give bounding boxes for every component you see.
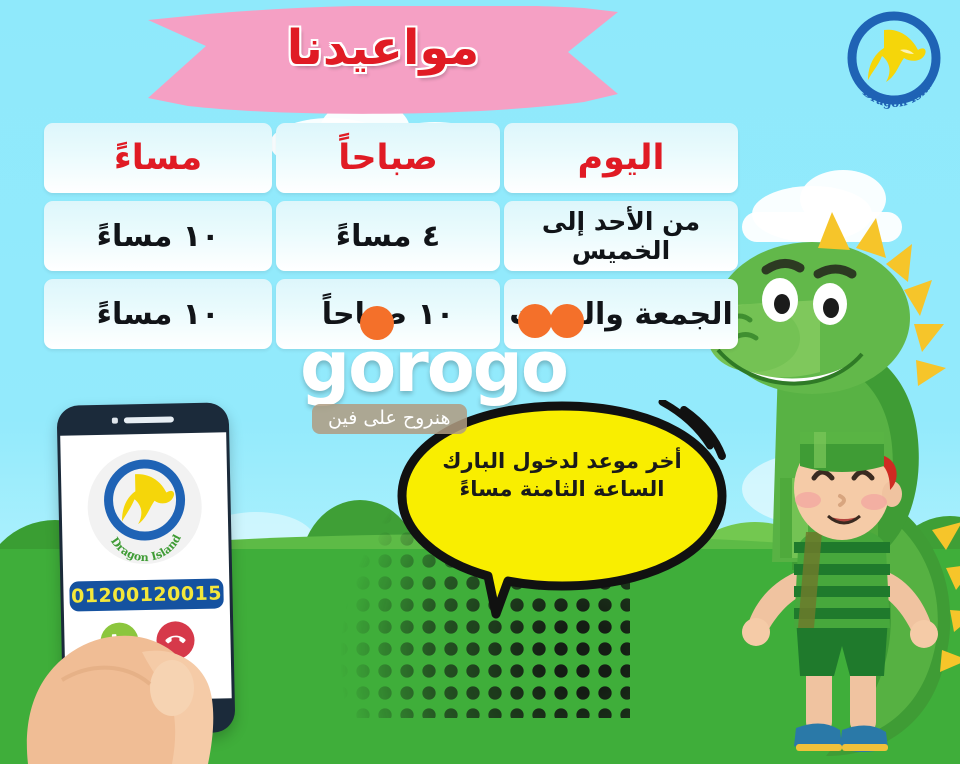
value-morning-weekday: ٤ مساءً	[336, 219, 440, 254]
header-cell-evening: مساءً	[44, 123, 272, 193]
cell-evening-weekend: ١٠ مساءً	[44, 279, 272, 349]
value-evening-weekend: ١٠ مساءً	[97, 297, 220, 332]
cell-morning-weekend: ١٠ صباحاً	[276, 279, 500, 349]
hand-holding-phone	[22, 560, 232, 764]
cell-evening-weekday: ١٠ مساءً	[44, 201, 272, 271]
table-row: الجمعة والسبت ١٠ صباحاً ١٠ مساءً	[38, 279, 738, 349]
header-cell-day: اليوم	[504, 123, 738, 193]
table-row: من الأحد إلى الخميس ٤ مساءً ١٠ مساءً	[38, 201, 738, 271]
poster-root: مواعيدنا Dragon Island اليوم صباحاً مساء…	[0, 0, 960, 764]
value-morning-weekend: ١٠ صباحاً	[322, 297, 454, 332]
bubble-message: أخر موعد لدخول البارك الساعة الثامنة مسا…	[428, 448, 696, 503]
page-title: مواعيدنا	[148, 20, 618, 76]
header-label-evening: مساءً	[114, 138, 202, 178]
cell-day-weekend: الجمعة والسبت	[504, 279, 738, 349]
table-header-row: اليوم صباحاً مساءً	[38, 123, 738, 193]
cell-day-weekday: من الأحد إلى الخميس	[504, 201, 738, 271]
boy-character	[742, 432, 938, 764]
phone-dragon-island-logo: Dragon Island	[84, 447, 204, 567]
speech-bubble: أخر موعد لدخول البارك الساعة الثامنة مسا…	[392, 400, 732, 630]
value-evening-weekday: ١٠ مساءً	[97, 219, 220, 254]
value-day-weekday: من الأحد إلى الخميس	[504, 207, 738, 265]
dragon-island-logo: Dragon Island	[838, 6, 950, 118]
header-label-day: اليوم	[577, 138, 664, 178]
bubble-line-1: أخر موعد لدخول البارك	[428, 448, 696, 476]
header-label-morning: صباحاً	[338, 138, 438, 178]
cell-morning-weekday: ٤ مساءً	[276, 201, 500, 271]
title-ribbon: مواعيدنا	[148, 6, 618, 114]
value-day-weekend: الجمعة والسبت	[509, 297, 733, 332]
phone-speaker	[112, 416, 174, 423]
bubble-line-2: الساعة الثامنة مساءً	[428, 476, 696, 504]
header-cell-morning: صباحاً	[276, 123, 500, 193]
schedule-table: اليوم صباحاً مساءً من الأحد إلى الخميس ٤…	[38, 123, 738, 357]
